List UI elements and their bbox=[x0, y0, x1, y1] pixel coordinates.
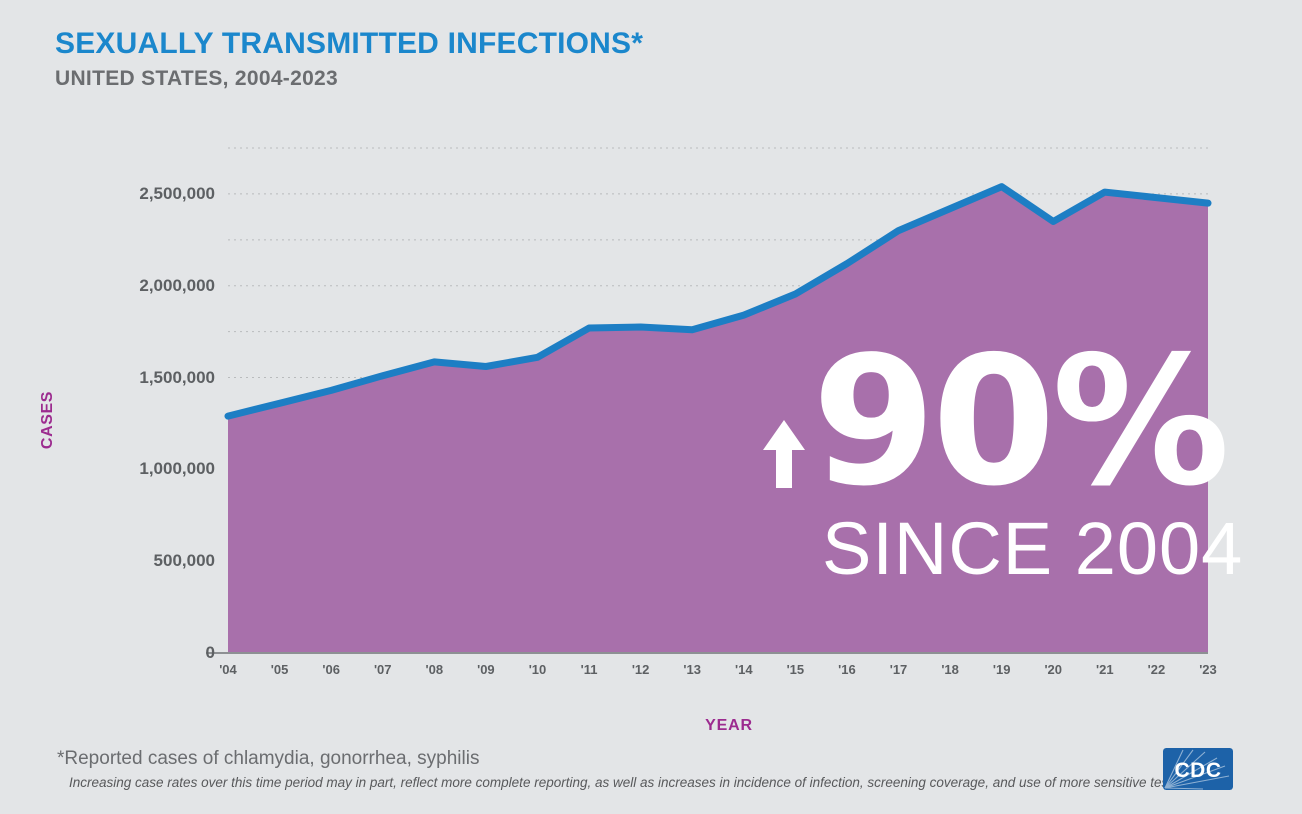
x-axis-tick: '15 bbox=[787, 662, 805, 677]
statistic-callout: 90% SINCE 2004 bbox=[762, 338, 1202, 586]
footnote-secondary: Increasing case rates over this time per… bbox=[69, 775, 1177, 790]
x-axis-tick: '07 bbox=[374, 662, 392, 677]
footnotes: *Reported cases of chlamydia, gonorrhea,… bbox=[57, 748, 1177, 790]
x-axis-tick: '10 bbox=[529, 662, 547, 677]
chart-area-fill bbox=[228, 187, 1208, 653]
cdc-logo: CDC bbox=[1163, 748, 1233, 790]
up-arrow-icon bbox=[762, 418, 806, 490]
y-axis-tick: 0 bbox=[206, 643, 215, 663]
x-axis-tick: '04 bbox=[219, 662, 237, 677]
footnote-primary: *Reported cases of chlamydia, gonorrhea,… bbox=[57, 748, 1177, 770]
y-axis-tick: 500,000 bbox=[154, 551, 215, 571]
y-axis-tick: 1,000,000 bbox=[139, 459, 215, 479]
y-axis-tick: 1,500,000 bbox=[139, 368, 215, 388]
x-axis-tick: '20 bbox=[1044, 662, 1062, 677]
x-axis-tick: '09 bbox=[477, 662, 495, 677]
y-axis-tick-labels: 0500,0001,000,0001,500,0002,000,0002,500… bbox=[60, 0, 215, 814]
x-axis-tick: '14 bbox=[735, 662, 753, 677]
y-axis-tick: 2,000,000 bbox=[139, 276, 215, 296]
x-axis-tick: '23 bbox=[1199, 662, 1217, 677]
y-axis-tick: 2,500,000 bbox=[139, 184, 215, 204]
x-axis-tick: '05 bbox=[271, 662, 289, 677]
chart-gridlines bbox=[228, 148, 1208, 607]
x-axis-tick: '21 bbox=[1096, 662, 1114, 677]
x-axis-tick: '12 bbox=[632, 662, 650, 677]
chart-data-line bbox=[228, 187, 1208, 417]
x-axis-tick: '17 bbox=[890, 662, 908, 677]
cdc-logo-text: CDC bbox=[1175, 759, 1222, 782]
callout-since-label: SINCE 2004 bbox=[822, 512, 1202, 586]
y-axis-title: CASES bbox=[39, 391, 57, 449]
x-axis-tick: '16 bbox=[838, 662, 856, 677]
x-axis-tick: '11 bbox=[581, 662, 598, 677]
x-axis-tick: '08 bbox=[426, 662, 444, 677]
x-axis-title: YEAR bbox=[705, 717, 753, 735]
x-axis-tick: '13 bbox=[683, 662, 701, 677]
callout-percent: 90% bbox=[812, 340, 1226, 504]
x-axis-tick: '19 bbox=[993, 662, 1011, 677]
x-axis-tick: '22 bbox=[1148, 662, 1166, 677]
x-axis-tick: '06 bbox=[322, 662, 340, 677]
callout-percent-row: 90% bbox=[762, 338, 1202, 506]
x-axis-tick-labels: '04'05'06'07'08'09'10'11'12'13'14'15'16'… bbox=[0, 662, 1302, 688]
x-axis-tick: '18 bbox=[941, 662, 959, 677]
